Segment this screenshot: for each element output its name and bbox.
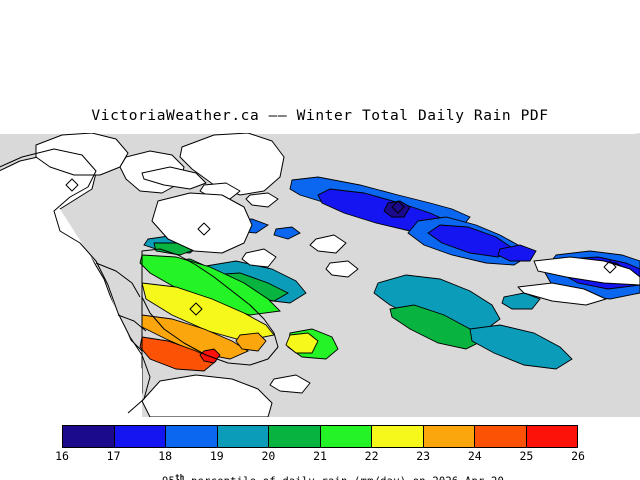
colorbar-segment-5 bbox=[321, 426, 373, 447]
colorbar-segment-6 bbox=[372, 426, 424, 447]
colorbar-segment-9 bbox=[527, 426, 578, 447]
weather-map-page: VictoriaWeather.ca —— Winter Total Daily… bbox=[0, 0, 640, 480]
map-panel bbox=[0, 133, 640, 417]
contour-map bbox=[0, 133, 640, 417]
page-title: VictoriaWeather.ca —— Winter Total Daily… bbox=[0, 108, 640, 124]
colorbar-segment-0 bbox=[63, 426, 115, 447]
colorbar-segment-2 bbox=[166, 426, 218, 447]
colorbar-segments bbox=[62, 425, 578, 448]
colorbar-segment-3 bbox=[218, 426, 270, 447]
colorbar-segment-1 bbox=[115, 426, 167, 447]
caption-prefix: 95 bbox=[162, 476, 175, 480]
colorbar bbox=[62, 425, 578, 448]
colorbar-caption: 95th percentile of daily rain (mm/day) o… bbox=[0, 461, 640, 480]
colorbar-segment-4 bbox=[269, 426, 321, 447]
caption-suffix: percentile of daily rain (mm/day) on 202… bbox=[185, 476, 505, 480]
caption-superscript: th bbox=[175, 473, 184, 480]
colorbar-segment-8 bbox=[475, 426, 527, 447]
colorbar-segment-7 bbox=[424, 426, 476, 447]
